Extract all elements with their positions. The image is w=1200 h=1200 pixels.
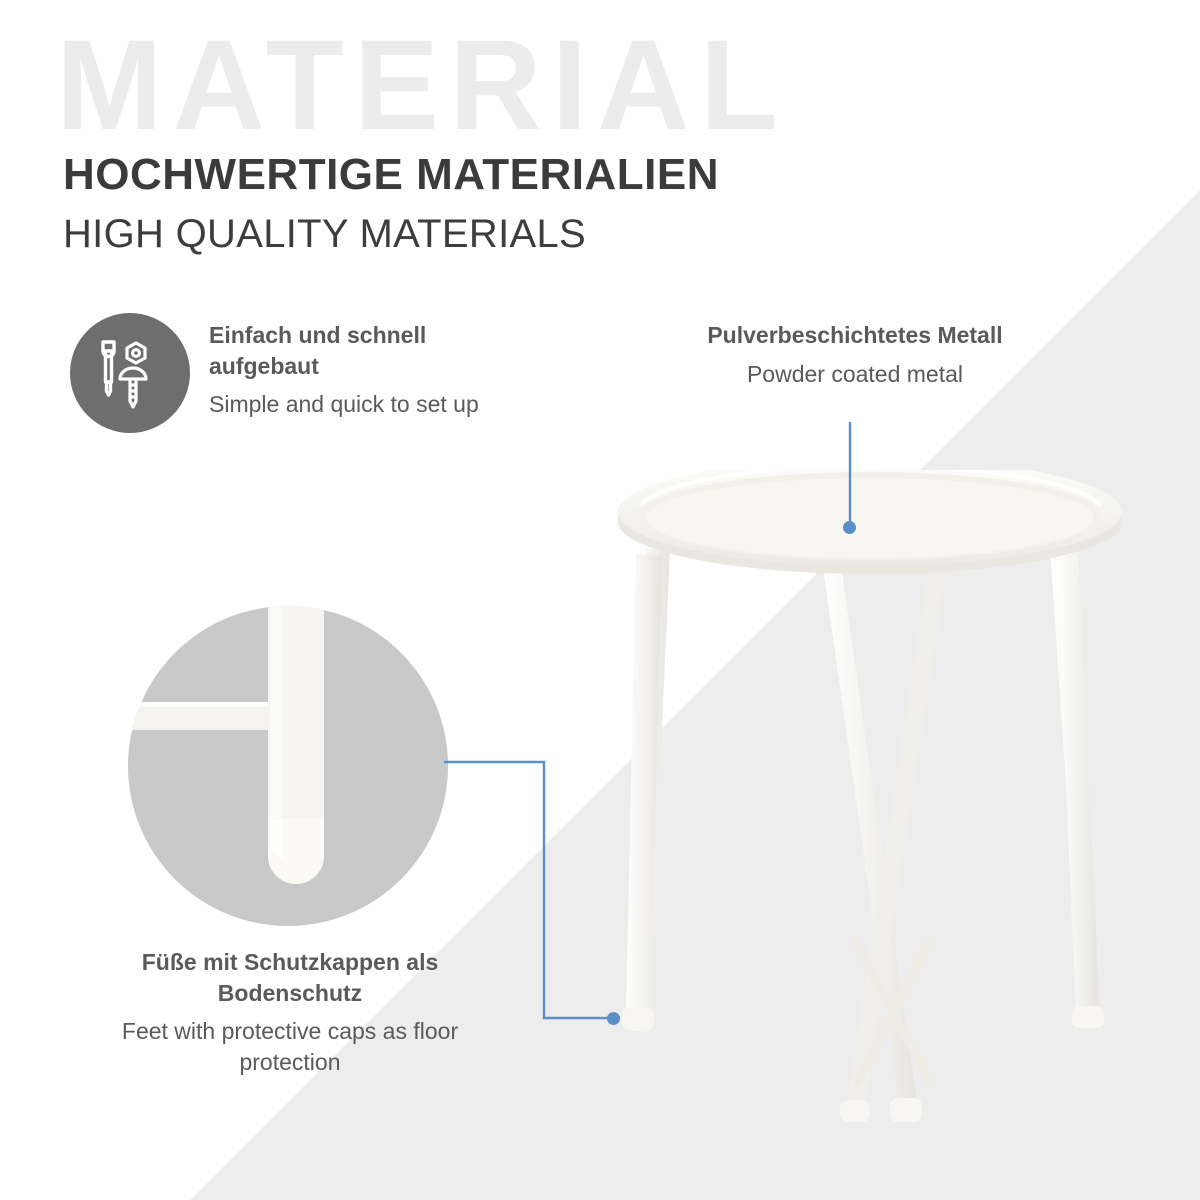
feature-feet-text: Füße mit Schutzkappen als Bodenschutz Fe… [120, 947, 460, 1077]
page-title-de: HOCHWERTIGE MATERIALIEN [63, 150, 719, 200]
feature-feet-de: Füße mit Schutzkappen als Bodenschutz [120, 947, 460, 1008]
feature-metal-en: Powder coated metal [700, 359, 1010, 390]
page-title-en: HIGH QUALITY MATERIALS [63, 212, 586, 257]
feature-assembly-en: Simple and quick to set up [209, 389, 509, 420]
feature-metal-de: Pulverbeschichtetes Metall [700, 320, 1010, 351]
screwdriver-screw-icon [70, 313, 190, 433]
foot-detail-zoom-circle [128, 606, 448, 926]
side-table-illustration [600, 470, 1140, 1160]
connector-dot-feet [607, 1012, 620, 1025]
connector-metal [780, 420, 940, 550]
assembly-icon-badge [70, 313, 190, 433]
material-infographic-page: MATERIAL HOCHWERTIGE MATERIALIEN HIGH QU… [0, 0, 1200, 1200]
feature-assembly-text: Einfach und schnell aufgebaut Simple and… [209, 320, 509, 420]
foot-detail-illustration [128, 606, 448, 926]
feature-assembly-de: Einfach und schnell aufgebaut [209, 320, 509, 381]
feature-metal-text: Pulverbeschichtetes Metall Powder coated… [700, 320, 1010, 389]
feature-feet-en: Feet with protective caps as floor prote… [120, 1016, 460, 1077]
watermark-text: MATERIAL [56, 22, 788, 150]
connector-dot-metal [843, 521, 856, 534]
connector-feet [440, 740, 660, 1040]
